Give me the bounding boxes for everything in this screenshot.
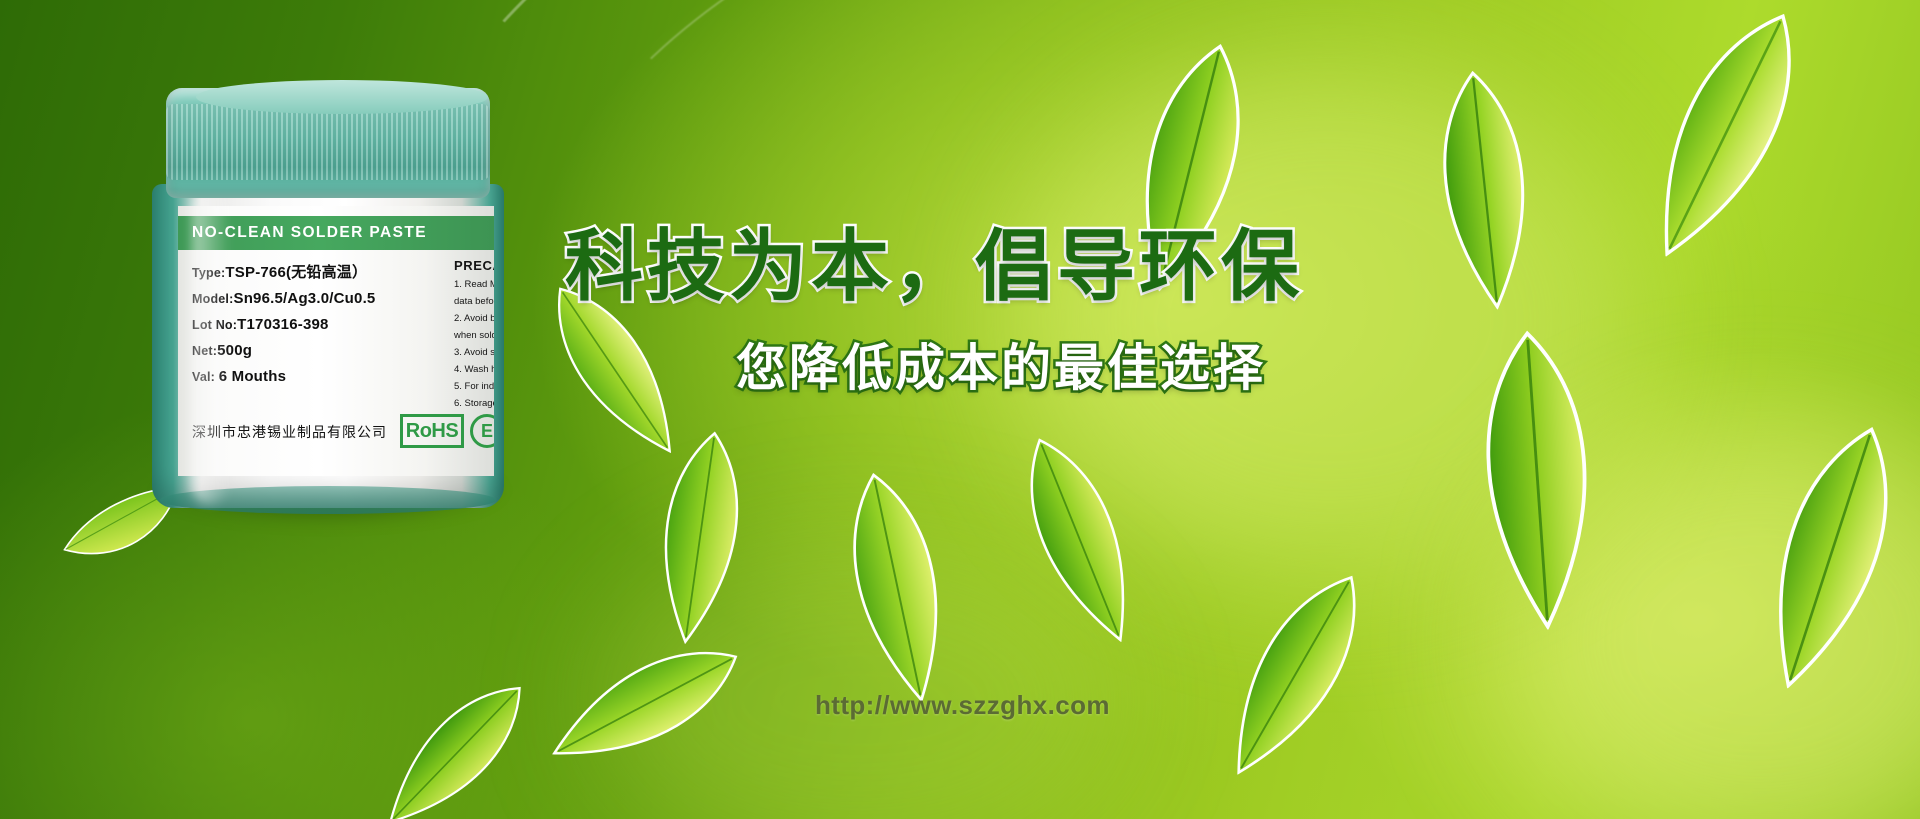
precaution-item: 5. For industrial use	[454, 380, 494, 394]
precaution-item: 4. Wash hands after	[454, 363, 494, 377]
precaution-item: 1. Read MSDS and	[454, 278, 494, 292]
leaf-icon	[1181, 543, 1409, 807]
precaution-item: 2. Avoid breathing	[454, 312, 494, 326]
jar-cap	[166, 88, 490, 198]
product-jar: NO-CLEAN SOLDER PASTE Type:TSP-766(无铅高温）…	[152, 88, 504, 508]
precaution-item: data before use	[454, 295, 494, 309]
leaf-icon	[983, 416, 1177, 665]
jar-highlight	[192, 188, 230, 504]
promo-banner: NO-CLEAN SOLDER PASTE Type:TSP-766(无铅高温）…	[0, 0, 1920, 819]
precaution-item: 3. Avoid skin contact	[454, 346, 494, 360]
leaf-icon	[807, 459, 988, 717]
leaf-icon	[335, 635, 575, 819]
precaution-item: 6. Storage Temp	[454, 397, 494, 411]
leaf-icon	[1408, 64, 1562, 316]
leaf-icon	[1445, 325, 1631, 636]
headline-secondary: 您降低成本的最佳选择	[565, 328, 1355, 400]
leaf-icon	[1716, 404, 1920, 712]
website-url: http://www.szzghx.com	[815, 690, 1110, 721]
background-glow	[600, 540, 1120, 819]
certification-circle-icon: E	[470, 414, 494, 448]
label-precaution-block: PRECAUTION 1. Read MSDS and data before …	[454, 258, 494, 414]
precaution-item: when soldering	[454, 329, 494, 343]
leaf-icon	[512, 581, 777, 819]
background-glow	[1500, 420, 1920, 819]
leaf-icon	[626, 423, 775, 653]
headline-primary: 科技为本，倡导环保	[565, 218, 1355, 314]
cap-ridges	[166, 104, 490, 180]
rohs-badge: RoHS	[400, 414, 464, 448]
precaution-heading: PRECAUTION	[454, 258, 494, 273]
cap-top-surface	[196, 80, 488, 114]
leaf-icon	[1598, 0, 1851, 289]
precaution-list: 1. Read MSDS and data before use 2. Avoi…	[454, 278, 494, 411]
headline-block: 科技为本，倡导环保 您降低成本的最佳选择	[565, 218, 1355, 400]
